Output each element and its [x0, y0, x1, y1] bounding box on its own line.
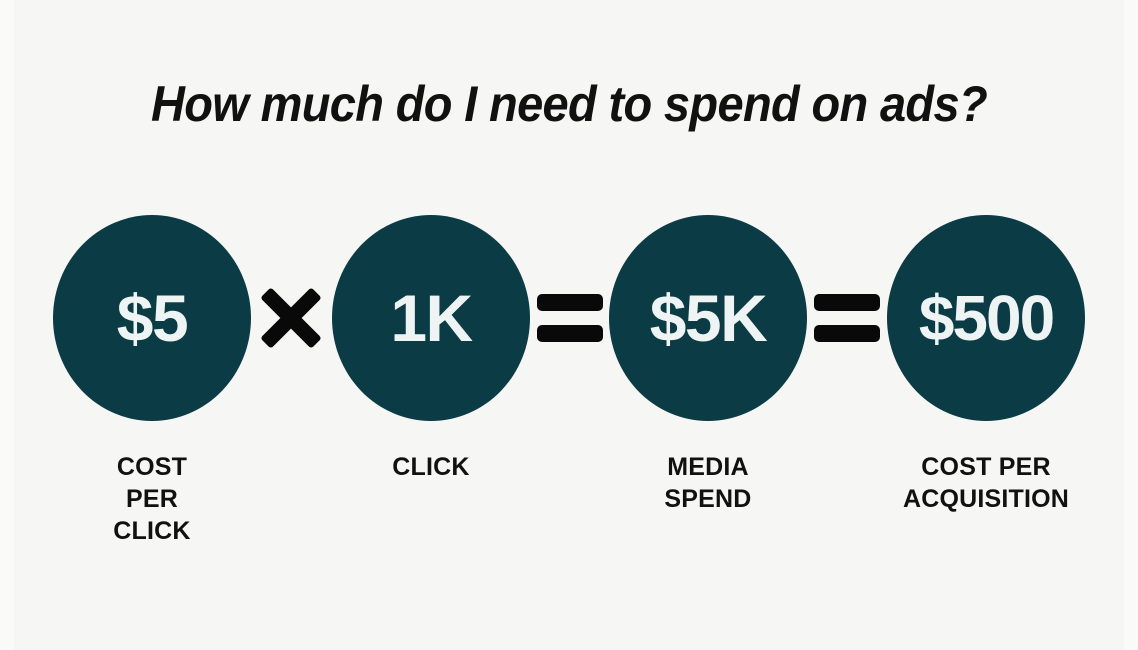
- equation-node-cost-per-acquisition: $500 COST PER ACQUISITION: [887, 215, 1085, 421]
- multiply-icon: [263, 290, 319, 346]
- operator-equals-2: [807, 215, 887, 421]
- circle-value: 1K: [390, 285, 471, 351]
- equals-bar-bottom: [814, 325, 880, 342]
- circle-value: $5K: [650, 285, 767, 351]
- node-label: MEDIA SPEND: [664, 451, 751, 515]
- operator-multiply: [251, 215, 331, 421]
- operator-equals-1: [530, 215, 610, 421]
- circle-value: $5: [117, 285, 187, 351]
- equation-node-cost-per-click: $5 COST PER CLICK: [53, 215, 251, 421]
- node-label: CLICK: [392, 451, 469, 483]
- equation-node-media-spend: $5K MEDIA SPEND: [609, 215, 807, 421]
- equals-icon: [814, 294, 880, 342]
- node-label: COST PER CLICK: [103, 451, 202, 547]
- equals-bar-top: [814, 294, 880, 311]
- equation-row: $5 COST PER CLICK 1K CLICK $5K: [0, 215, 1138, 421]
- infographic-canvas: How much do I need to spend on ads? $5 C…: [0, 0, 1138, 650]
- circle-value: $500: [919, 285, 1053, 351]
- node-label: COST PER ACQUISITION: [903, 451, 1069, 515]
- equals-icon: [537, 294, 603, 342]
- equals-bar-top: [537, 294, 603, 311]
- equation-node-click: 1K CLICK: [332, 215, 530, 421]
- equals-bar-bottom: [537, 325, 603, 342]
- page-title: How much do I need to spend on ads?: [34, 72, 1104, 136]
